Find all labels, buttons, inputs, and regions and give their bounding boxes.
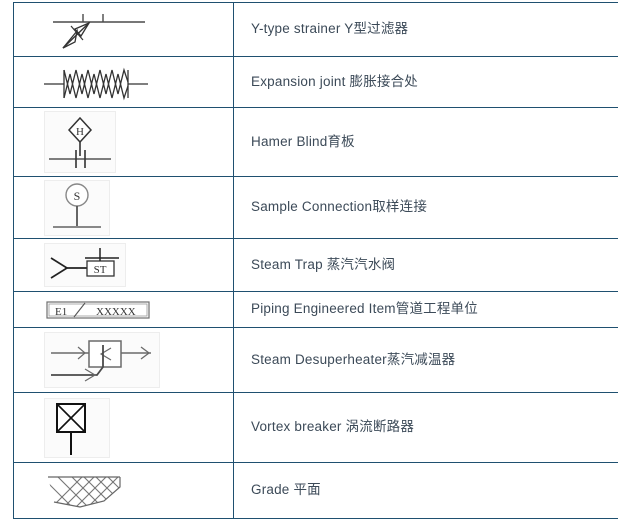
vortex-breaker-symbol xyxy=(14,398,233,458)
piping-item-prefix-label: E1 xyxy=(55,306,67,318)
symbol-description: Hamer Blind育板 xyxy=(251,134,355,149)
description-cell: Y-type strainer Y型过滤器 xyxy=(234,3,618,57)
table-row: S Sample Connection取样连接 xyxy=(14,177,618,239)
description-cell: Hamer Blind育板 xyxy=(234,108,618,177)
steam-desuperheater-symbol xyxy=(14,332,233,388)
table-row: Expansion joint 膨胀接合处 xyxy=(14,57,618,108)
description-cell: Steam Desuperheater蒸汽减温器 xyxy=(234,328,618,393)
description-cell: Grade 平面 xyxy=(234,463,618,519)
piping-item-tag-label: XXXXX xyxy=(96,306,136,318)
piping-symbol-legend-table: Y-type strainer Y型过滤器 Expansi xyxy=(13,2,618,519)
description-cell: Steam Trap 蒸汽汽水阀 xyxy=(234,239,618,292)
symbol-description: Vortex breaker 涡流断路器 xyxy=(251,419,414,434)
symbol-description: Steam Trap 蒸汽汽水阀 xyxy=(251,257,395,272)
expansion-joint-symbol xyxy=(14,60,233,104)
piping-engineered-item-symbol: E1 XXXXX xyxy=(14,298,233,322)
symbol-cell xyxy=(14,463,234,519)
hamer-blind-symbol: H xyxy=(14,111,233,173)
grade-symbol xyxy=(14,469,233,513)
symbol-cell: S xyxy=(14,177,234,239)
table-row: Vortex breaker 涡流断路器 xyxy=(14,393,618,463)
description-cell: Sample Connection取样连接 xyxy=(234,177,618,239)
symbol-description: Grade 平面 xyxy=(251,482,321,497)
symbol-description: Y-type strainer Y型过滤器 xyxy=(251,21,408,36)
description-cell: Piping Engineered Item管道工程单位 xyxy=(234,292,618,328)
sample-connection-symbol: S xyxy=(14,180,233,236)
symbol-cell: ST xyxy=(14,239,234,292)
symbol-description: Sample Connection取样连接 xyxy=(251,199,427,214)
symbol-description: Steam Desuperheater蒸汽减温器 xyxy=(251,352,455,367)
description-cell: Vortex breaker 涡流断路器 xyxy=(234,393,618,463)
symbol-cell xyxy=(14,393,234,463)
table-row: H Hamer Blind育板 xyxy=(14,108,618,177)
table-row: Grade 平面 xyxy=(14,463,618,519)
steam-trap-symbol: ST xyxy=(14,243,233,287)
symbol-description: Expansion joint 膨胀接合处 xyxy=(251,74,418,89)
symbol-cell xyxy=(14,57,234,108)
symbol-cell xyxy=(14,328,234,393)
table-row: ST Steam Trap 蒸汽汽水阀 xyxy=(14,239,618,292)
symbol-description: Piping Engineered Item管道工程单位 xyxy=(251,301,478,316)
symbol-cell: H xyxy=(14,108,234,177)
y-type-strainer-symbol xyxy=(14,6,233,54)
table-row: E1 XXXXX Piping Engineered Item管道工程单位 xyxy=(14,292,618,328)
sample-connection-label: S xyxy=(74,189,81,203)
steam-trap-label: ST xyxy=(94,264,107,276)
table-row: Steam Desuperheater蒸汽减温器 xyxy=(14,328,618,393)
description-cell: Expansion joint 膨胀接合处 xyxy=(234,57,618,108)
hamer-blind-label: H xyxy=(76,126,84,138)
symbol-cell xyxy=(14,3,234,57)
table-row: Y-type strainer Y型过滤器 xyxy=(14,3,618,57)
symbol-cell: E1 XXXXX xyxy=(14,292,234,328)
